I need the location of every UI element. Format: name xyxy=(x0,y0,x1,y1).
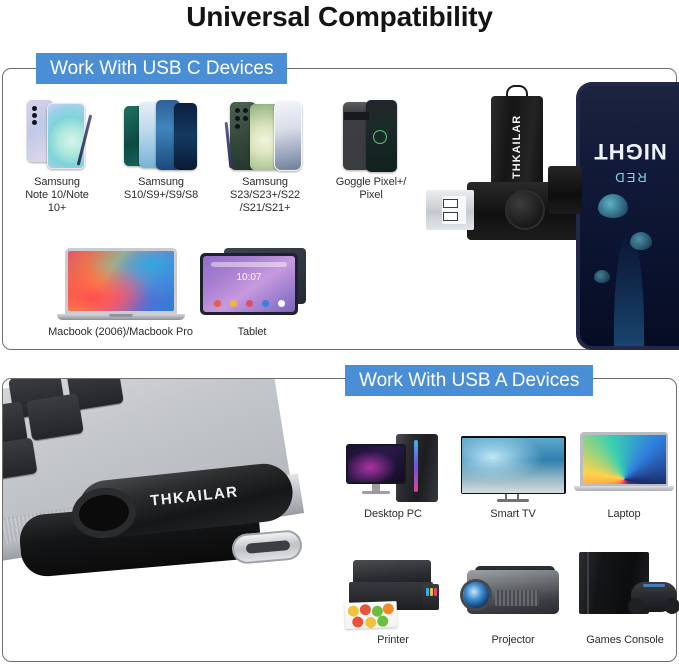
phone-adapter-connector xyxy=(548,166,582,214)
device-label-smart-tv: Smart TV xyxy=(458,508,568,521)
wallpaper-text-primary: NIGHT xyxy=(580,138,679,164)
drive-brand-text: THKAILAR xyxy=(491,112,543,182)
device-label-google-pixel: Goggle Pixel+/ Pixel xyxy=(330,176,412,202)
usb-a-connector xyxy=(426,190,474,230)
device-cell-smart-tv: Smart TV xyxy=(458,430,568,521)
game-controller-image xyxy=(631,582,677,612)
drive-pivot xyxy=(505,190,545,230)
device-label-samsung-s10: Samsung S10/S9+/S9/S8 xyxy=(118,176,204,202)
device-cell-games-console: Games Console xyxy=(570,552,679,647)
usb-a-section-banner: Work With USB A Devices xyxy=(345,365,593,396)
device-cell-tablet: 10:07 Tablet xyxy=(196,248,308,339)
printer-image xyxy=(345,560,441,630)
device-cell-printer: Printer xyxy=(338,560,448,647)
smart-tv-image xyxy=(461,430,566,504)
device-cell-samsung-note-10: Samsung Note 10/Note 10+ xyxy=(16,100,98,215)
phone-with-night-wallpaper: NIGHT RED xyxy=(576,82,679,350)
samsung-note-10-image xyxy=(27,100,87,172)
infographic-page: Universal Compatibility Work With USB C … xyxy=(0,0,679,666)
games-console-image xyxy=(571,552,679,630)
google-pixel-image xyxy=(343,100,399,172)
usb-c-section-banner: Work With USB C Devices xyxy=(36,53,287,84)
tablet-search-bar xyxy=(211,262,287,267)
device-label-games-console: Games Console xyxy=(570,634,679,647)
desktop-pc-image xyxy=(346,430,440,504)
device-label-tablet: Tablet xyxy=(196,326,308,339)
samsung-s23-image xyxy=(226,100,304,172)
device-cell-samsung-s10: Samsung S10/S9+/S9/S8 xyxy=(118,100,204,202)
device-cell-google-pixel: Goggle Pixel+/ Pixel xyxy=(330,100,412,202)
device-cell-samsung-s23: Samsung S23/S23+/S22 /S21/S21+ xyxy=(222,100,308,215)
samsung-s10-image xyxy=(124,100,198,172)
tablet-clock: 10:07 xyxy=(203,272,295,283)
device-cell-macbook: Macbook (2006)/Macbook Pro xyxy=(38,248,203,339)
device-cell-desktop-pc: Desktop PC xyxy=(338,430,448,521)
device-label-desktop-pc: Desktop PC xyxy=(338,508,448,521)
tablet-app-icons xyxy=(209,300,289,307)
device-label-samsung-note-10: Samsung Note 10/Note 10+ xyxy=(16,176,98,215)
usb-c-connector xyxy=(231,529,303,565)
device-label-laptop: Laptop xyxy=(574,508,674,521)
device-cell-projector: Projector xyxy=(458,560,568,647)
projector-image xyxy=(461,560,565,630)
wallpaper-text-secondary: RED xyxy=(580,170,679,185)
page-title: Universal Compatibility xyxy=(0,0,679,34)
laptop-image xyxy=(574,430,674,504)
macbook-image xyxy=(57,248,185,322)
device-label-samsung-s23: Samsung S23/S23+/S22 /S21/S21+ xyxy=(222,176,308,215)
tablet-image: 10:07 xyxy=(196,248,308,322)
device-label-projector: Projector xyxy=(458,634,568,647)
device-cell-laptop: Laptop xyxy=(574,430,674,521)
device-label-printer: Printer xyxy=(338,634,448,647)
usb-drive-photo-type-c: THKAILAR xyxy=(20,468,320,598)
device-label-macbook: Macbook (2006)/Macbook Pro xyxy=(38,326,203,339)
printed-photo-sample xyxy=(345,601,398,629)
